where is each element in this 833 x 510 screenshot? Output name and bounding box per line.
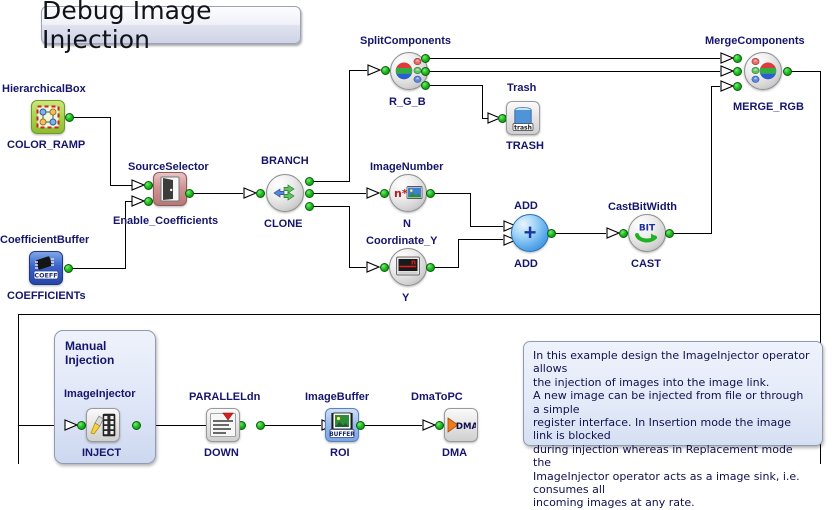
svg-text:DMA: DMA	[456, 422, 476, 432]
door-selector-icon	[158, 176, 182, 202]
port-y-out[interactable]	[426, 263, 435, 272]
port-split-in[interactable]	[381, 66, 390, 75]
node-trash[interactable]: trash	[506, 101, 540, 135]
wire-clone-out3-drop	[349, 206, 350, 267]
port-clone-out-3[interactable]	[305, 202, 314, 211]
wire-selector-to-clone	[187, 193, 243, 194]
port-down-out[interactable]	[256, 421, 265, 430]
wire-n-drop	[470, 193, 471, 226]
wire-y-to-add	[458, 239, 503, 240]
wire-clone-out2-to-n	[312, 193, 366, 194]
wire-cast-to-merge	[711, 86, 720, 87]
wire-split-r-to-merge	[428, 58, 720, 59]
wire-cast-out	[668, 233, 712, 234]
svg-text:COEFF: COEFF	[34, 272, 57, 280]
coordinate-y-name-label: Y	[402, 292, 409, 304]
parallel-down-icon	[209, 412, 237, 438]
port-n-out[interactable]	[426, 189, 435, 198]
wire-colorramp-out	[73, 117, 111, 118]
port-split-out-g[interactable]	[421, 67, 430, 76]
inject-name-label: INJECT	[82, 447, 121, 459]
port-clone-in[interactable]	[256, 189, 265, 198]
dma-name-label: DMA	[442, 447, 467, 459]
merge-type-label: MergeComponents	[705, 35, 805, 47]
node-coefficients[interactable]: COEFF	[29, 251, 63, 285]
port-merge-out[interactable]	[783, 67, 792, 76]
split-type-label: SplitComponents	[360, 35, 451, 47]
port-split-out-r[interactable]	[421, 54, 430, 63]
port-add-out[interactable]	[547, 229, 556, 238]
port-dma-in[interactable]	[435, 421, 444, 430]
wire-clone-out1	[312, 181, 350, 182]
image-number-icon: n*	[393, 184, 423, 202]
port-clone-out-2[interactable]	[305, 189, 314, 198]
trash-can-icon: trash	[510, 104, 536, 132]
coordinate-y-icon: n	[395, 255, 421, 279]
port-selector-in-2[interactable]	[144, 197, 153, 206]
port-selector-in-1[interactable]	[144, 181, 153, 190]
plus-icon: +	[524, 223, 537, 243]
down-name-label: DOWN	[204, 447, 239, 459]
image-injector-icon	[89, 412, 117, 438]
image-number-name-label: N	[403, 218, 411, 230]
port-merge-in-1[interactable]	[733, 54, 742, 63]
svg-text:BUFFER: BUFFER	[329, 432, 355, 438]
node-source-selector[interactable]	[153, 172, 187, 206]
port-merge-in-2[interactable]	[733, 67, 742, 76]
diagram-title-plaque: Debug Image Injection	[41, 6, 301, 44]
wire-coeff-rise	[125, 201, 126, 269]
hierarchical-box-icon	[35, 104, 61, 130]
coefficients-name-label: COEFFICIENTs	[7, 290, 86, 302]
dma-icon: DMA	[446, 415, 476, 435]
node-dma-to-pc[interactable]: DMA	[444, 408, 478, 442]
port-cast-out[interactable]	[665, 229, 674, 238]
clone-name-label: CLONE	[264, 218, 303, 230]
wire-clone-out3-to-y	[349, 267, 366, 268]
input-arrow-split[interactable]	[367, 64, 382, 76]
node-clone[interactable]	[266, 174, 304, 212]
input-arrow-y[interactable]	[366, 261, 381, 273]
merge-rgb-icon	[748, 57, 778, 85]
color-ramp-name-label: COLOR_RAMP	[7, 139, 85, 151]
port-roi-out[interactable]	[356, 421, 365, 430]
wire-split-b	[428, 85, 483, 86]
dma-type-label: DmaToPC	[411, 391, 463, 403]
wire-add-to-cast	[550, 233, 606, 234]
wire-n-to-add	[470, 226, 503, 227]
node-image-buffer[interactable]: BUFFER	[325, 408, 359, 442]
node-parallel-down[interactable]	[206, 408, 240, 442]
node-image-number[interactable]: n*	[389, 174, 427, 212]
coefficients-type-label: CoefficientBuffer	[0, 234, 89, 246]
wire-clone-out3	[312, 206, 350, 207]
coordinate-y-type-label: Coordinate_Y	[366, 235, 438, 247]
merge-name-label: MERGE_RGB	[733, 101, 804, 113]
port-inject-out[interactable]	[132, 421, 141, 430]
down-type-label: PARALLELdn	[189, 391, 260, 403]
wire-y-rise	[458, 239, 459, 268]
wire-merge-drop	[820, 71, 821, 314]
node-color-ramp[interactable]	[31, 100, 65, 134]
port-inject-in[interactable]	[77, 421, 86, 430]
add-name-label: ADD	[514, 258, 538, 270]
trash-name-label: TRASH	[506, 140, 544, 152]
image-buffer-icon: BUFFER	[328, 411, 356, 439]
design-note-text: In this example design the ImageInjector…	[533, 349, 813, 510]
node-merge-components[interactable]	[744, 52, 782, 90]
node-cast[interactable]: BIT	[628, 214, 666, 252]
wire-clone-out1-to-split	[349, 70, 367, 71]
cast-name-label: CAST	[631, 258, 661, 270]
svg-text:n*: n*	[394, 187, 408, 200]
coefficient-chip-icon: COEFF	[32, 254, 60, 282]
schematic-canvas: Debug Image Injection	[0, 0, 833, 464]
clone-type-label: BRANCH	[261, 155, 309, 167]
node-add[interactable]: +	[511, 214, 549, 252]
port-n-in[interactable]	[380, 189, 389, 198]
cast-type-label: CastBitWidth	[608, 201, 677, 213]
port-merge-in-3[interactable]	[733, 82, 742, 91]
inject-type-label: ImageInjector	[64, 388, 136, 400]
wire-coeff-out	[68, 268, 126, 269]
design-note: In this example design the ImageInjector…	[523, 341, 823, 446]
wire-colorramp-to-selector	[110, 185, 132, 186]
color-ramp-type-label: HierarchicalBox	[2, 83, 86, 95]
source-selector-name-label: Enable_Coefficients	[113, 215, 218, 227]
port-split-out-b[interactable]	[421, 81, 430, 90]
roi-type-label: ImageBuffer	[305, 391, 369, 403]
port-coefficients-out[interactable]	[64, 264, 73, 273]
port-color-ramp-out[interactable]	[65, 113, 74, 122]
image-number-type-label: ImageNumber	[370, 161, 443, 173]
svg-text:trash: trash	[514, 124, 532, 131]
input-arrow-n[interactable]	[366, 187, 381, 199]
wire-clone-out1-rise	[349, 70, 350, 182]
roi-name-label: ROI	[330, 447, 350, 459]
page-title: Debug Image Injection	[42, 0, 300, 54]
cast-bit-icon: BIT	[632, 220, 662, 246]
wire-cast-rise	[711, 86, 712, 234]
port-clone-out-1[interactable]	[305, 177, 314, 186]
port-selector-out[interactable]	[185, 189, 194, 198]
node-coordinate-y[interactable]: n	[389, 248, 427, 286]
node-image-injector[interactable]	[86, 408, 120, 442]
split-name-label: R_G_B	[389, 96, 426, 108]
wire-merge-out	[789, 71, 821, 72]
group-manual-injection-title: Manual Injection	[65, 339, 114, 367]
wire-split-g-to-merge	[428, 71, 720, 72]
wire-colorramp-drop	[110, 117, 111, 185]
split-rgb-icon	[394, 57, 424, 85]
add-type-label: ADD	[514, 200, 538, 212]
svg-text:BIT: BIT	[639, 224, 656, 234]
trash-type-label: Trash	[507, 82, 536, 94]
svg-text:n: n	[411, 259, 416, 267]
wire-split-b-drop	[482, 85, 483, 118]
port-cast-in[interactable]	[619, 229, 628, 238]
port-y-in[interactable]	[380, 263, 389, 272]
branch-arrows-icon	[272, 182, 298, 204]
wire-n-out	[429, 193, 471, 194]
